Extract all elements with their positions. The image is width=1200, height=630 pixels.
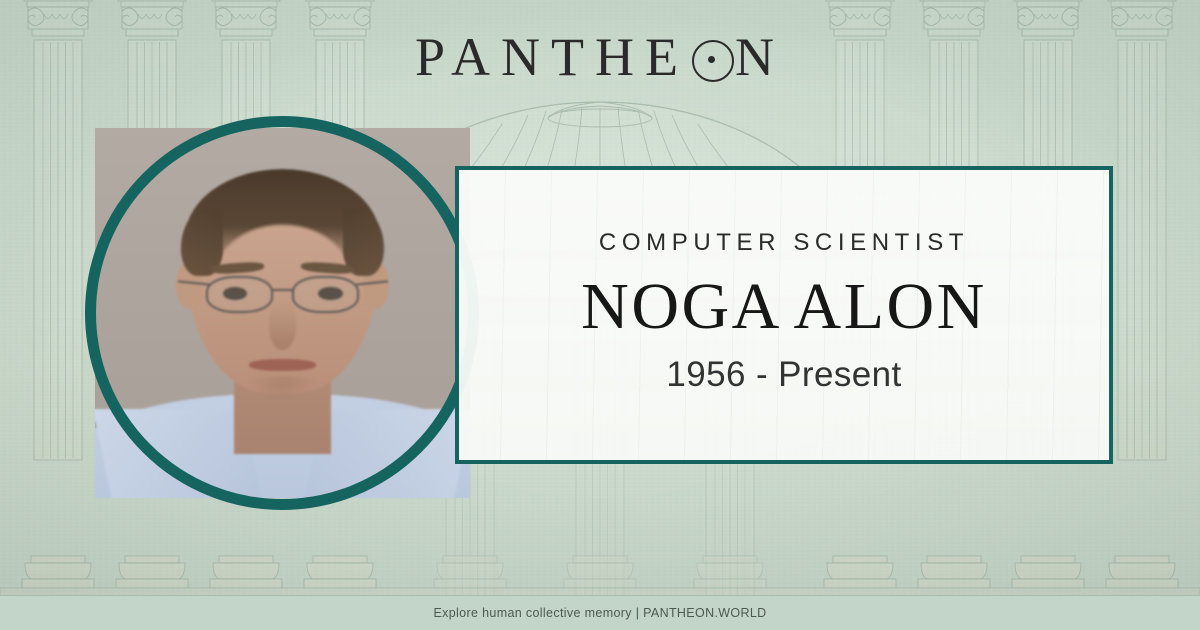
logo-text-after: N (735, 27, 785, 87)
footer-bar: Explore human collective memory | PANTHE… (0, 595, 1200, 630)
pantheon-logo: PANTHEN (0, 26, 1200, 88)
occupation-label: COMPUTER SCIENTIST (599, 229, 969, 257)
card-content: COMPUTER SCIENTIST NOGA ALON 1956 - Pres… (459, 170, 1109, 460)
footer-text: Explore human collective memory | PANTHE… (433, 606, 766, 620)
dotted-o-icon (691, 39, 733, 81)
person-info-card: COMPUTER SCIENTIST NOGA ALON 1956 - Pres… (455, 166, 1113, 464)
lifespan-label: 1956 - Present (666, 355, 901, 395)
logo-text-before: PANTHE (415, 27, 689, 87)
person-name: NOGA ALON (581, 273, 987, 340)
portrait-photo (95, 128, 470, 498)
portrait (95, 128, 470, 498)
pantheon-profile-card: PANTHEN (0, 0, 1200, 630)
photo-softening-overlay (95, 128, 470, 498)
